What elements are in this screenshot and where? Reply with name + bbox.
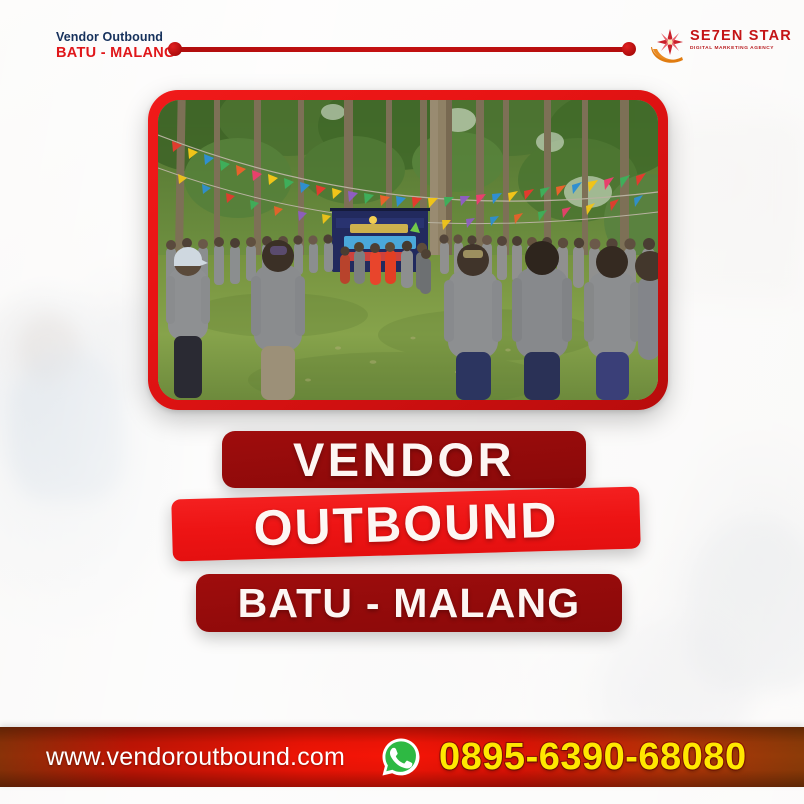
background-ghost-shape xyxy=(690,520,804,690)
divider-dot-left-icon xyxy=(168,42,182,56)
background-ghost-shape xyxy=(660,120,800,300)
background-ghost-shape xyxy=(0,300,85,388)
divider-line xyxy=(176,47,628,52)
brand-block: Vendor Outbound BATU - MALANG xyxy=(56,30,176,62)
seven-star-logo[interactable]: SE7EN STAR DIGITAL MARKETING AGENCY xyxy=(650,22,770,68)
footer-content: www.vendoroutbound.com 0895-6390-68080 xyxy=(46,736,747,779)
poster-canvas: Vendor Outbound BATU - MALANG xyxy=(0,0,804,804)
title-line-outbound[interactable]: OUTBOUND xyxy=(171,486,641,561)
website-url[interactable]: www.vendoroutbound.com xyxy=(46,743,345,772)
title-line-location[interactable]: BATU - MALANG xyxy=(196,574,622,632)
title-line-vendor[interactable]: VENDOR xyxy=(222,431,586,488)
brand-line-1: Vendor Outbound xyxy=(56,30,176,45)
whatsapp-icon[interactable] xyxy=(381,737,421,777)
logo-text-block: SE7EN STAR DIGITAL MARKETING AGENCY xyxy=(690,29,772,51)
divider-dot-right-icon xyxy=(622,42,636,56)
logo-tagline: DIGITAL MARKETING AGENCY xyxy=(690,46,772,51)
brand-line-2: BATU - MALANG xyxy=(56,45,176,62)
whatsapp-phone-number[interactable]: 0895-6390-68080 xyxy=(439,736,747,779)
logo-name: SE7EN STAR xyxy=(690,29,772,44)
contact-footer-bar: www.vendoroutbound.com 0895-6390-68080 xyxy=(0,727,804,787)
header-divider-rule xyxy=(168,41,636,57)
seven-star-burst-logo-icon xyxy=(650,25,692,65)
background-ghost-shape xyxy=(18,315,80,381)
hero-photo-frame[interactable] xyxy=(148,90,668,410)
hero-photo xyxy=(158,100,658,400)
background-ghost-shape xyxy=(10,350,125,500)
poster-header: Vendor Outbound BATU - MALANG xyxy=(0,0,804,82)
